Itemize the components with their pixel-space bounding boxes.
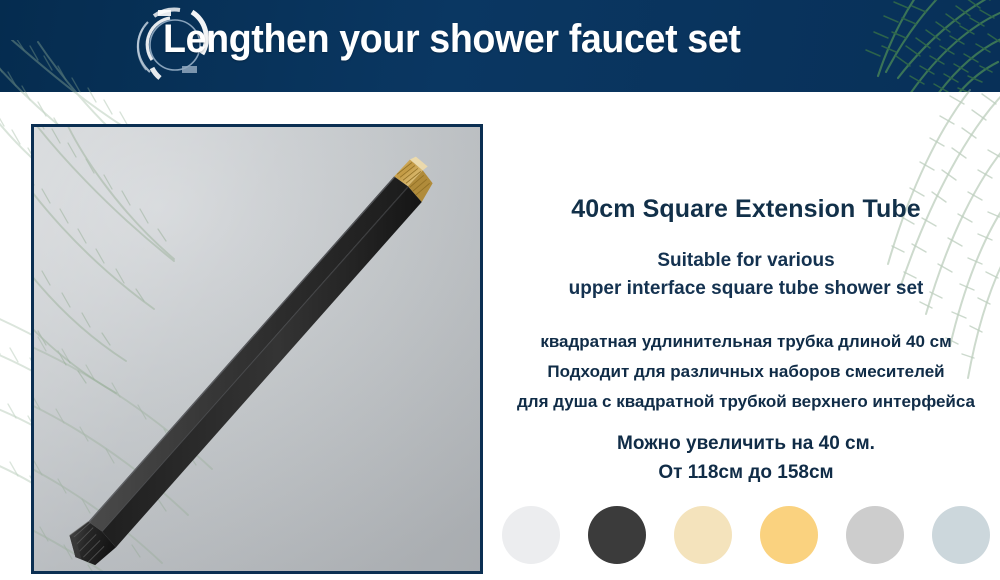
product-description-block: 40cm Square Extension Tube Suitable for … — [492, 124, 1000, 494]
header-banner: Lengthen your shower faucet set — [0, 0, 1000, 92]
palm-leaf-decoration-top-right — [802, 0, 1000, 92]
swatch-cream[interactable] — [674, 506, 732, 564]
swatch-blue-grey[interactable] — [932, 506, 990, 564]
swatch-gold[interactable] — [760, 506, 818, 564]
ru-line-5: От 118см до 158см — [492, 458, 1000, 487]
swatch-white[interactable] — [502, 506, 560, 564]
subtitle-en-line-2: upper interface square tube shower set — [492, 275, 1000, 303]
product-headline: 40cm Square Extension Tube — [492, 195, 1000, 224]
ru-line-2: Подходит для различных наборов смесителе… — [492, 357, 1000, 387]
product-length-ru: Можно увеличить на 40 см. От 118см до 15… — [492, 429, 1000, 487]
subtitle-en-line-1: Suitable for various — [492, 247, 1000, 275]
product-image-frame — [31, 124, 483, 574]
page-title: Lengthen your shower faucet set — [163, 17, 741, 62]
extension-tube-product — [34, 127, 480, 571]
swatch-light-grey[interactable] — [846, 506, 904, 564]
product-subtitle-en: Suitable for various upper interface squ… — [492, 247, 1000, 303]
swatch-black[interactable] — [588, 506, 646, 564]
color-swatch-row — [492, 503, 1000, 567]
product-description-ru-primary: квадратная удлинительная трубка длиной 4… — [492, 327, 1000, 417]
ru-line-1: квадратная удлинительная трубка длиной 4… — [492, 327, 1000, 357]
ru-line-3: для душа с квадратной трубкой верхнего и… — [492, 387, 1000, 417]
ru-line-4: Можно увеличить на 40 см. — [492, 429, 1000, 458]
